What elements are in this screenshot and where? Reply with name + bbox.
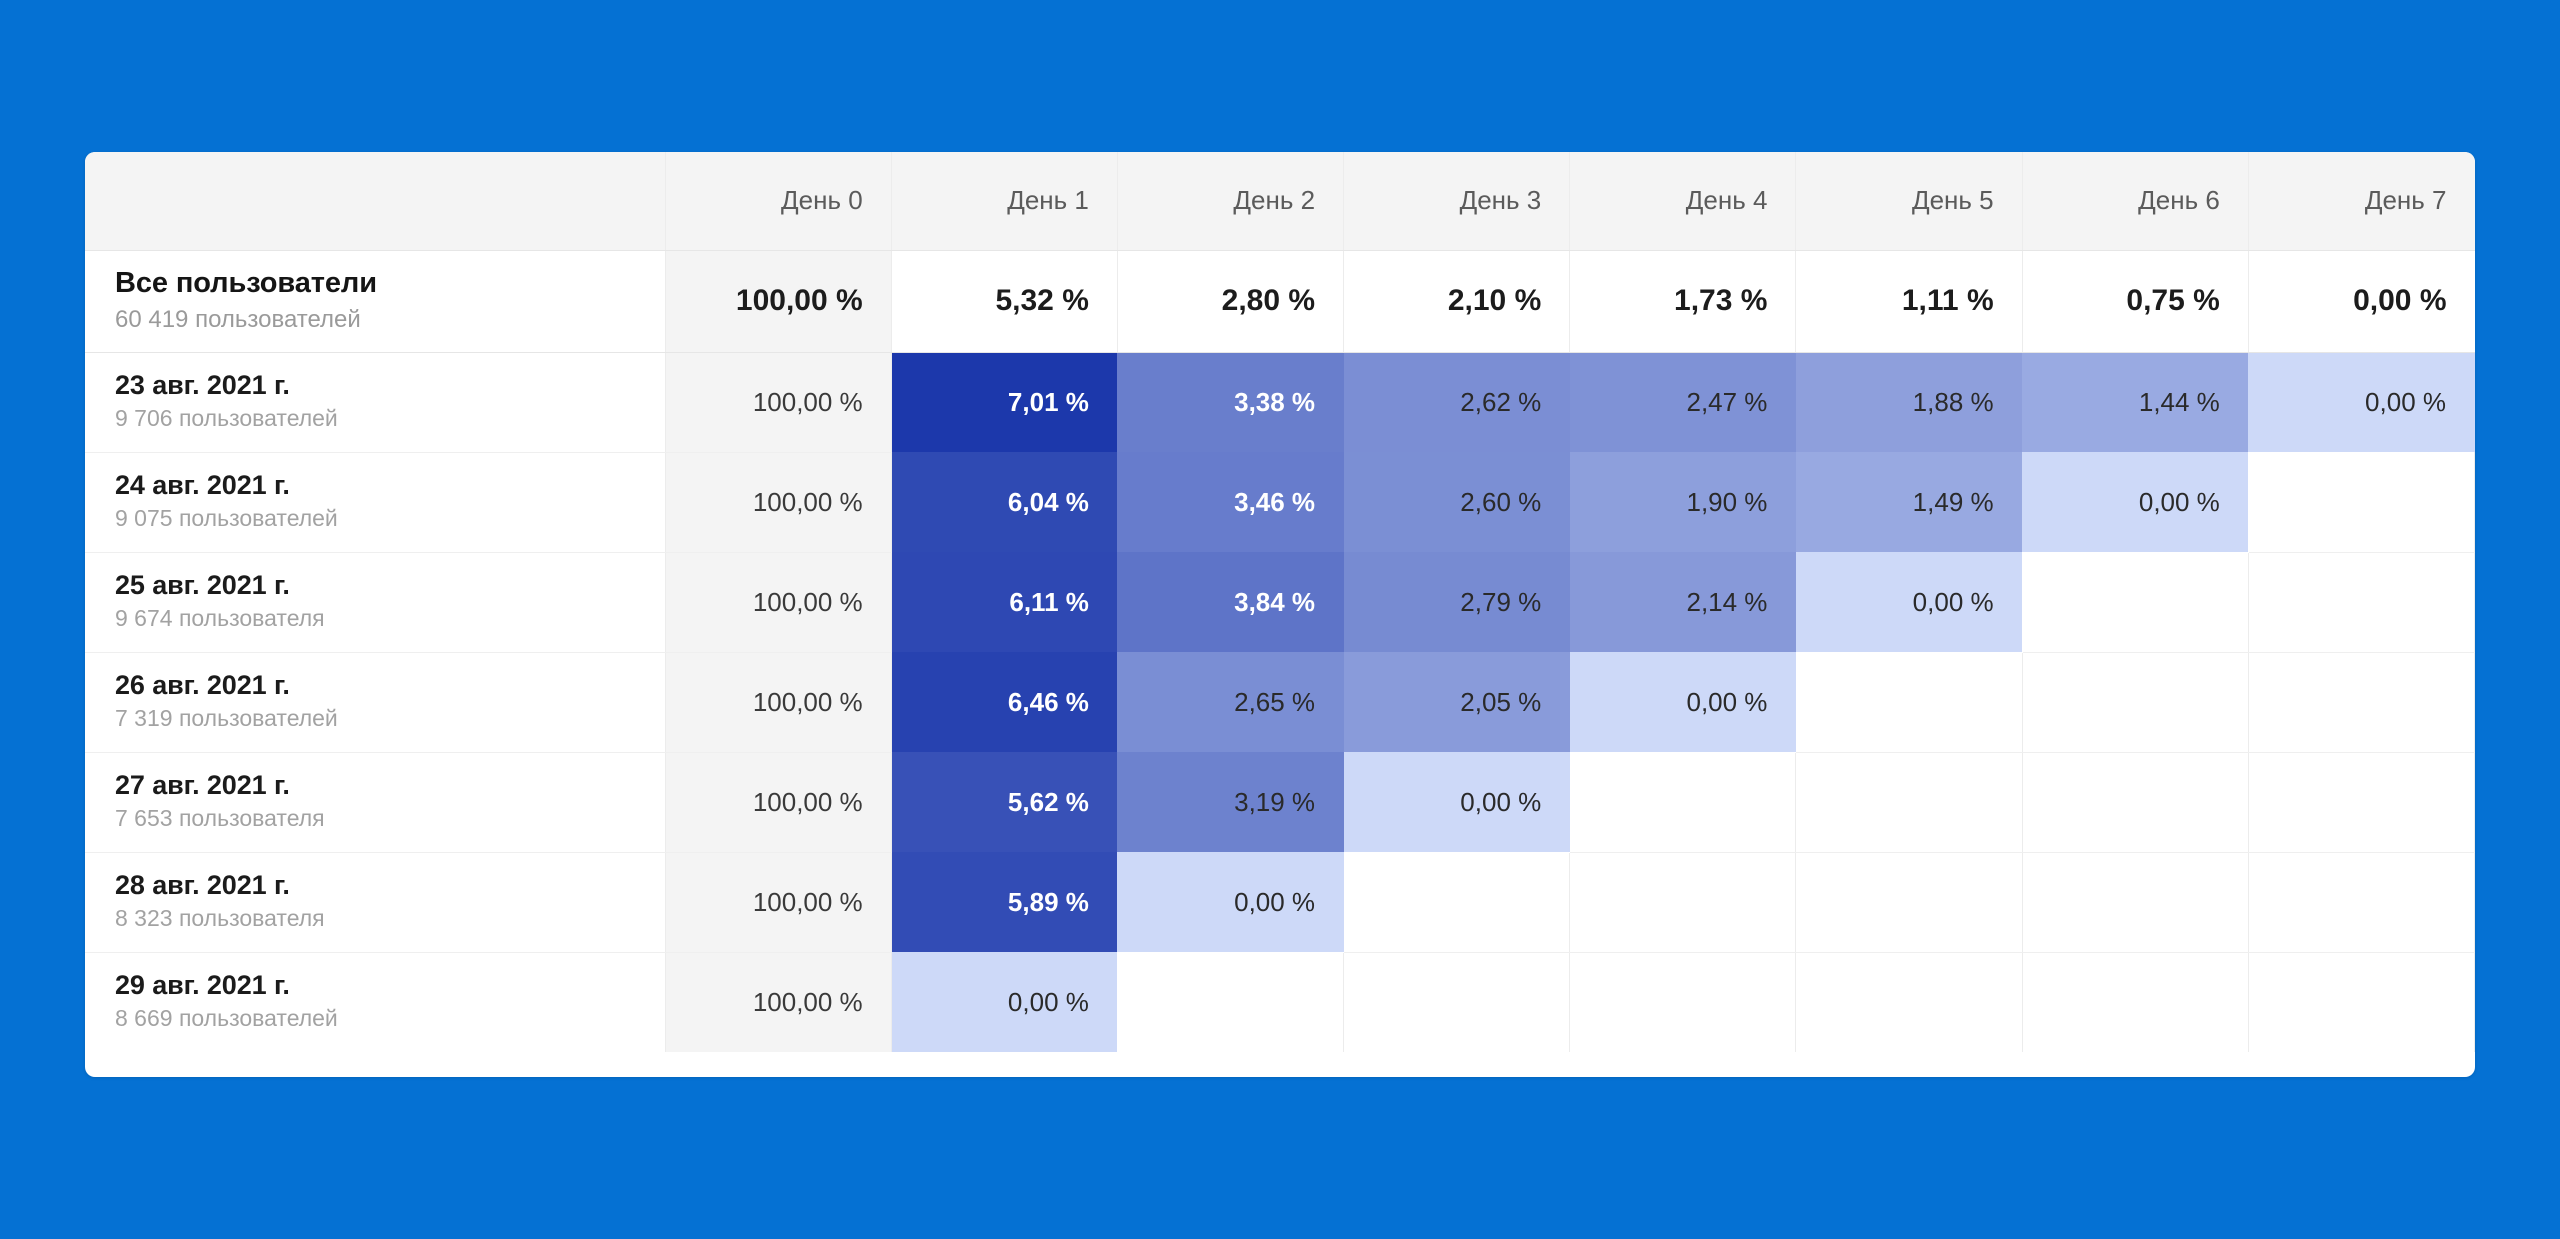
- cell-empty: [2022, 552, 2248, 652]
- cell-day-0: 100,00 %: [665, 752, 891, 852]
- table-row: 25 авг. 2021 г.9 674 пользователя100,00 …: [85, 552, 2475, 652]
- column-header-day-5[interactable]: День 5: [1796, 152, 2022, 250]
- row-users-count: 9 075 пользователей: [115, 504, 637, 534]
- column-header-day-2[interactable]: День 2: [1117, 152, 1343, 250]
- cell-retention: 6,46 %: [891, 652, 1117, 752]
- column-header-day-3[interactable]: День 3: [1344, 152, 1570, 250]
- column-header-day-7[interactable]: День 7: [2248, 152, 2474, 250]
- cell-day-0: 100,00 %: [665, 552, 891, 652]
- cell-retention: 7,01 %: [891, 352, 1117, 452]
- row-date-label: 28 авг. 2021 г.: [115, 870, 637, 901]
- summary-value-day-1: 5,32 %: [891, 250, 1117, 352]
- cell-retention: 0,00 %: [2248, 352, 2474, 452]
- summary-value-day-3: 2,10 %: [1344, 250, 1570, 352]
- cell-day-0: 100,00 %: [665, 352, 891, 452]
- cell-empty: [2022, 852, 2248, 952]
- summary-row: Все пользователи 60 419 пользователей 10…: [85, 250, 2475, 352]
- cell-retention: 3,46 %: [1117, 452, 1343, 552]
- cell-empty: [1570, 852, 1796, 952]
- cell-empty: [2248, 852, 2474, 952]
- cell-retention: 0,00 %: [891, 952, 1117, 1052]
- row-label-cell: 28 авг. 2021 г.8 323 пользователя: [85, 852, 665, 952]
- row-users-count: 7 319 пользователей: [115, 704, 637, 734]
- summary-value-day-7: 0,00 %: [2248, 250, 2474, 352]
- cell-empty: [1796, 652, 2022, 752]
- cell-retention: 0,00 %: [1796, 552, 2022, 652]
- summary-title: Все пользователи: [115, 267, 637, 300]
- cell-retention: 0,00 %: [1117, 852, 1343, 952]
- cell-retention: 1,44 %: [2022, 352, 2248, 452]
- cohort-card: День 0 День 1 День 2 День 3 День 4 День …: [85, 152, 2475, 1077]
- cell-empty: [2248, 752, 2474, 852]
- page-root: День 0 День 1 День 2 День 3 День 4 День …: [0, 0, 2560, 1239]
- cell-empty: [2248, 652, 2474, 752]
- table-row: 28 авг. 2021 г.8 323 пользователя100,00 …: [85, 852, 2475, 952]
- cell-empty: [2248, 952, 2474, 1052]
- summary-label-cell: Все пользователи 60 419 пользователей: [85, 250, 665, 352]
- cell-retention: 1,90 %: [1570, 452, 1796, 552]
- row-users-count: 8 669 пользователей: [115, 1004, 637, 1034]
- cell-empty: [1570, 752, 1796, 852]
- cell-empty: [2248, 552, 2474, 652]
- cell-empty: [1117, 952, 1343, 1052]
- table-body: Все пользователи 60 419 пользователей 10…: [85, 250, 2475, 1052]
- summary-value-day-6: 0,75 %: [2022, 250, 2248, 352]
- table-row: 23 авг. 2021 г.9 706 пользователей100,00…: [85, 352, 2475, 452]
- cell-empty: [1344, 952, 1570, 1052]
- row-label-cell: 24 авг. 2021 г.9 075 пользователей: [85, 452, 665, 552]
- cell-retention: 2,47 %: [1570, 352, 1796, 452]
- row-label-cell: 25 авг. 2021 г.9 674 пользователя: [85, 552, 665, 652]
- cell-retention: 2,05 %: [1344, 652, 1570, 752]
- cell-day-0: 100,00 %: [665, 652, 891, 752]
- cell-day-0: 100,00 %: [665, 452, 891, 552]
- cell-retention: 2,79 %: [1344, 552, 1570, 652]
- cell-retention: 3,38 %: [1117, 352, 1343, 452]
- cell-retention: 2,62 %: [1344, 352, 1570, 452]
- table-row: 29 авг. 2021 г.8 669 пользователей100,00…: [85, 952, 2475, 1052]
- row-date-label: 23 авг. 2021 г.: [115, 370, 637, 401]
- cell-retention: 6,11 %: [891, 552, 1117, 652]
- row-label-cell: 27 авг. 2021 г.7 653 пользователя: [85, 752, 665, 852]
- row-label-cell: 23 авг. 2021 г.9 706 пользователей: [85, 352, 665, 452]
- summary-subtitle: 60 419 пользователей: [115, 304, 637, 335]
- summary-value-day-5: 1,11 %: [1796, 250, 2022, 352]
- cell-empty: [1570, 952, 1796, 1052]
- summary-value-day-0: 100,00 %: [665, 250, 891, 352]
- header-corner: [85, 152, 665, 250]
- cell-empty: [1796, 852, 2022, 952]
- cell-retention: 0,00 %: [1344, 752, 1570, 852]
- row-date-label: 27 авг. 2021 г.: [115, 770, 637, 801]
- column-header-day-4[interactable]: День 4: [1570, 152, 1796, 250]
- table-row: 24 авг. 2021 г.9 075 пользователей100,00…: [85, 452, 2475, 552]
- cell-retention: 2,65 %: [1117, 652, 1343, 752]
- cell-empty: [1344, 852, 1570, 952]
- table-row: 27 авг. 2021 г.7 653 пользователя100,00 …: [85, 752, 2475, 852]
- cell-empty: [2022, 952, 2248, 1052]
- cell-day-0: 100,00 %: [665, 952, 891, 1052]
- cell-empty: [1796, 752, 2022, 852]
- cohort-table: День 0 День 1 День 2 День 3 День 4 День …: [85, 152, 2475, 1052]
- summary-value-day-2: 2,80 %: [1117, 250, 1343, 352]
- cell-retention: 6,04 %: [891, 452, 1117, 552]
- row-users-count: 8 323 пользователя: [115, 904, 637, 934]
- cell-retention: 0,00 %: [1570, 652, 1796, 752]
- table-header: День 0 День 1 День 2 День 3 День 4 День …: [85, 152, 2475, 250]
- cell-retention: 3,19 %: [1117, 752, 1343, 852]
- row-label-cell: 26 авг. 2021 г.7 319 пользователей: [85, 652, 665, 752]
- header-row: День 0 День 1 День 2 День 3 День 4 День …: [85, 152, 2475, 250]
- cell-retention: 5,62 %: [891, 752, 1117, 852]
- column-header-day-1[interactable]: День 1: [891, 152, 1117, 250]
- cell-empty: [2022, 752, 2248, 852]
- cell-retention: 1,49 %: [1796, 452, 2022, 552]
- row-date-label: 24 авг. 2021 г.: [115, 470, 637, 501]
- cell-retention: 2,14 %: [1570, 552, 1796, 652]
- row-users-count: 9 674 пользователя: [115, 604, 637, 634]
- row-users-count: 9 706 пользователей: [115, 404, 637, 434]
- row-date-label: 29 авг. 2021 г.: [115, 970, 637, 1001]
- column-header-day-0[interactable]: День 0: [665, 152, 891, 250]
- cell-empty: [2248, 452, 2474, 552]
- cell-day-0: 100,00 %: [665, 852, 891, 952]
- row-date-label: 26 авг. 2021 г.: [115, 670, 637, 701]
- table-row: 26 авг. 2021 г.7 319 пользователей100,00…: [85, 652, 2475, 752]
- row-label-cell: 29 авг. 2021 г.8 669 пользователей: [85, 952, 665, 1052]
- cell-retention: 5,89 %: [891, 852, 1117, 952]
- cell-empty: [2022, 652, 2248, 752]
- row-date-label: 25 авг. 2021 г.: [115, 570, 637, 601]
- cell-retention: 1,88 %: [1796, 352, 2022, 452]
- column-header-day-6[interactable]: День 6: [2022, 152, 2248, 250]
- summary-value-day-4: 1,73 %: [1570, 250, 1796, 352]
- cell-retention: 2,60 %: [1344, 452, 1570, 552]
- cell-retention: 0,00 %: [2022, 452, 2248, 552]
- cell-retention: 3,84 %: [1117, 552, 1343, 652]
- row-users-count: 7 653 пользователя: [115, 804, 637, 834]
- cell-empty: [1796, 952, 2022, 1052]
